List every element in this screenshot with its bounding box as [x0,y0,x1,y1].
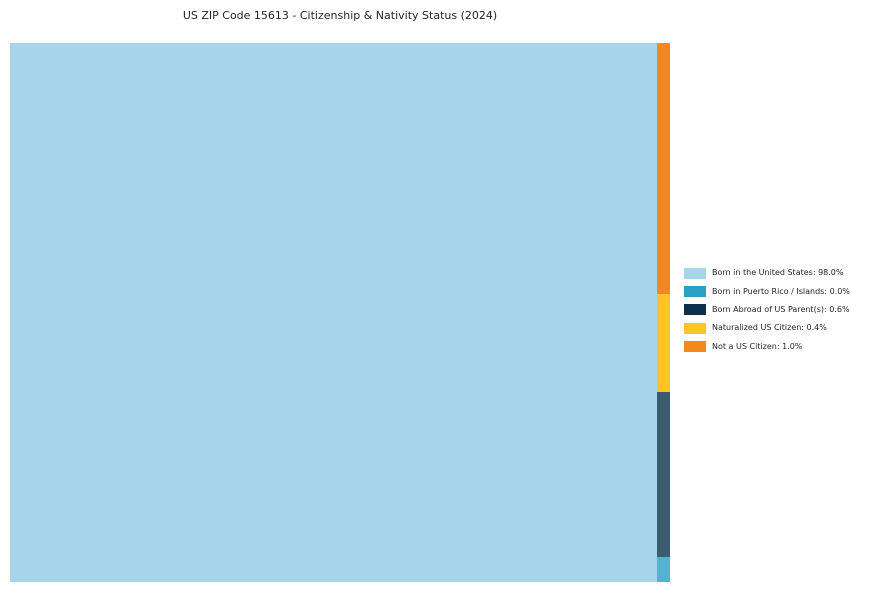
legend-item-born-in-puerto-rico-islands[interactable]: Born in Puerto Rico / Islands: 0.0% [684,282,882,300]
treemap-tile-born-abroad-of-us-parents[interactable] [657,392,670,557]
legend-swatch-born-abroad-of-us-parents [684,304,706,315]
treemap-tile-born-in-puerto-rico-islands[interactable] [657,557,670,582]
legend-label-born-in-the-united-states: Born in the United States: 98.0% [712,269,843,277]
treemap-tile-naturalized-us-citizen[interactable] [657,294,670,392]
treemap-tile-not-a-us-citizen[interactable] [657,43,670,294]
treemap-tile-born-in-the-united-states[interactable] [10,43,657,582]
legend-label-not-a-us-citizen: Not a US Citizen: 1.0% [712,343,802,351]
legend-item-naturalized-us-citizen[interactable]: Naturalized US Citizen: 0.4% [684,319,882,337]
page-title: US ZIP Code 15613 - Citizenship & Nativi… [0,9,680,22]
legend-label-born-abroad-of-us-parents: Born Abroad of US Parent(s): 0.6% [712,306,850,314]
legend-item-born-in-the-united-states[interactable]: Born in the United States: 98.0% [684,264,882,282]
legend-label-naturalized-us-citizen: Naturalized US Citizen: 0.4% [712,324,827,332]
legend-swatch-not-a-us-citizen [684,341,706,352]
treemap-figure: US ZIP Code 15613 - Citizenship & Nativi… [0,0,889,590]
legend-label-born-in-puerto-rico-islands: Born in Puerto Rico / Islands: 0.0% [712,288,850,296]
legend-swatch-born-in-the-united-states [684,268,706,279]
legend-item-not-a-us-citizen[interactable]: Not a US Citizen: 1.0% [684,338,882,356]
treemap-plot-area [10,43,670,582]
legend-swatch-naturalized-us-citizen [684,323,706,334]
chart-legend: Born in the United States: 98.0% Born in… [684,264,882,356]
legend-item-born-abroad-of-us-parents[interactable]: Born Abroad of US Parent(s): 0.6% [684,301,882,319]
legend-swatch-born-in-puerto-rico-islands [684,286,706,297]
